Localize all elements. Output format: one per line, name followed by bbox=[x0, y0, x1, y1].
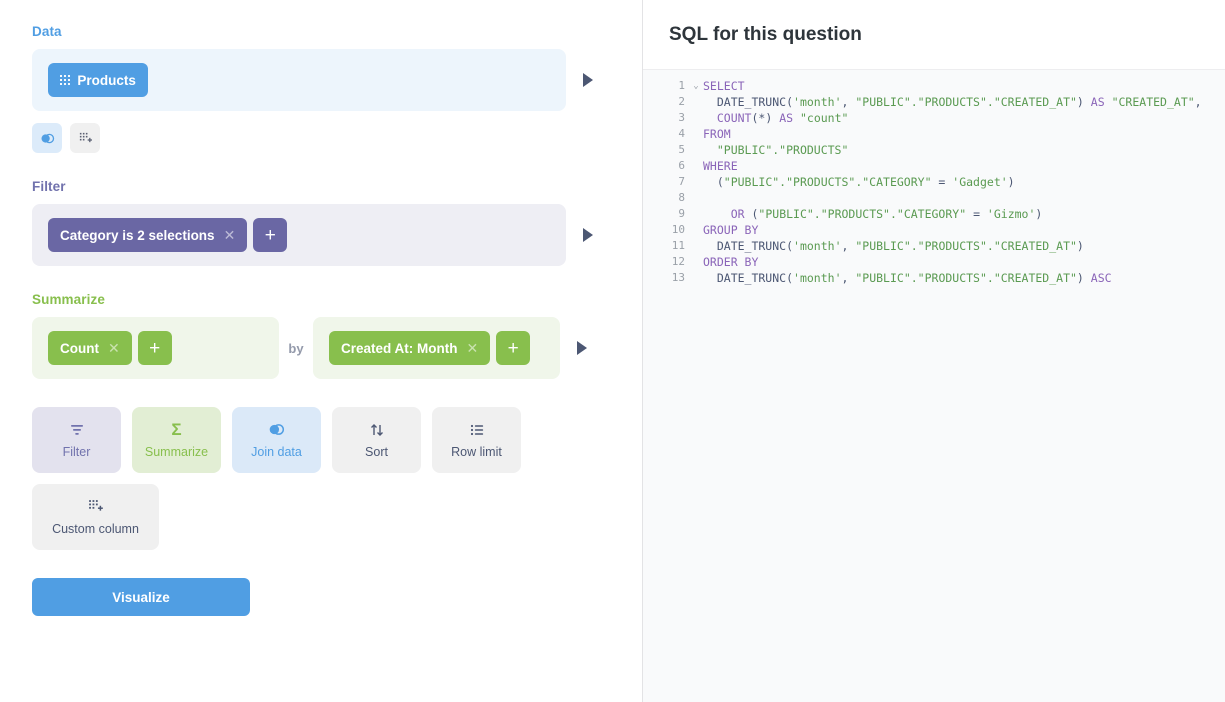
sql-line-text: FROM bbox=[703, 126, 1225, 142]
play-triangle-icon bbox=[577, 341, 587, 355]
sql-code-line: 8 bbox=[643, 190, 1225, 206]
filter-section-label: Filter bbox=[32, 179, 610, 194]
data-preview-button[interactable] bbox=[566, 73, 610, 87]
sql-panel-title: SQL for this question bbox=[669, 24, 862, 46]
aggregation-body: Count ✕ + bbox=[32, 317, 279, 379]
sql-line-text: "PUBLIC"."PRODUCTS" bbox=[703, 142, 1225, 158]
notebook-panel: Data Products bbox=[0, 0, 642, 702]
filter-chip[interactable]: Category is 2 selections ✕ bbox=[48, 218, 247, 252]
action-custom-column-label: Custom column bbox=[52, 522, 139, 536]
breakout-chip[interactable]: Created At: Month ✕ bbox=[329, 331, 490, 365]
sql-line-text: WHERE bbox=[703, 158, 1225, 174]
sql-line-text: DATE_TRUNC('month', "PUBLIC"."PRODUCTS".… bbox=[703, 238, 1225, 254]
action-summarize-label: Summarize bbox=[145, 445, 208, 459]
summarize-section: Summarize Count ✕ + by Created At: Month… bbox=[32, 292, 610, 407]
sql-code-line: 1⌄SELECT bbox=[643, 78, 1225, 94]
action-summarize-button[interactable]: Σ Summarize bbox=[132, 407, 221, 473]
add-aggregation-button[interactable]: + bbox=[138, 331, 172, 365]
sql-code-line: 5 "PUBLIC"."PRODUCTS" bbox=[643, 142, 1225, 158]
action-filter-label: Filter bbox=[63, 445, 91, 459]
breakout-body: Created At: Month ✕ + bbox=[313, 317, 560, 379]
list-icon bbox=[469, 421, 485, 438]
mini-join-data-button[interactable] bbox=[32, 123, 62, 153]
aggregation-chip-label: Count bbox=[60, 341, 99, 356]
sql-line-number: 11 bbox=[643, 238, 689, 254]
spacer bbox=[32, 266, 610, 292]
sql-line-number: 12 bbox=[643, 254, 689, 270]
data-mini-actions bbox=[32, 123, 610, 153]
data-step-body: Products bbox=[32, 49, 566, 111]
sql-line-number: 2 bbox=[643, 94, 689, 110]
sql-line-number: 6 bbox=[643, 158, 689, 174]
sigma-icon: Σ bbox=[171, 421, 181, 438]
sql-line-number: 9 bbox=[643, 206, 689, 222]
sql-line-text: COUNT(*) AS "count" bbox=[703, 110, 1225, 126]
close-x-icon[interactable]: ✕ bbox=[467, 341, 479, 355]
action-row-limit-label: Row limit bbox=[451, 445, 502, 459]
sql-line-number: 10 bbox=[643, 222, 689, 238]
action-custom-column-button[interactable]: Custom column bbox=[32, 484, 159, 550]
sql-code-area[interactable]: 1⌄SELECT2 DATE_TRUNC('month', "PUBLIC"."… bbox=[643, 70, 1225, 702]
summarize-preview-button[interactable] bbox=[560, 341, 604, 355]
sql-line-text: DATE_TRUNC('month', "PUBLIC"."PRODUCTS".… bbox=[703, 270, 1225, 286]
notebook-editor-page: Data Products bbox=[0, 0, 1225, 702]
sql-line-number: 8 bbox=[643, 190, 689, 206]
filter-step-body: Category is 2 selections ✕ + bbox=[32, 204, 566, 266]
sql-code-line: 13 DATE_TRUNC('month', "PUBLIC"."PRODUCT… bbox=[643, 270, 1225, 286]
sql-line-number: 7 bbox=[643, 174, 689, 190]
sql-code-line: 11 DATE_TRUNC('month', "PUBLIC"."PRODUCT… bbox=[643, 238, 1225, 254]
sort-arrows-icon bbox=[369, 421, 385, 438]
play-triangle-icon bbox=[583, 228, 593, 242]
filter-section: Filter Category is 2 selections ✕ + bbox=[32, 179, 610, 292]
data-table-chip[interactable]: Products bbox=[48, 63, 148, 97]
chevron-down-icon[interactable]: ⌄ bbox=[689, 78, 703, 94]
custom-column-icon bbox=[78, 131, 93, 146]
play-triangle-icon bbox=[583, 73, 593, 87]
sql-line-number: 5 bbox=[643, 142, 689, 158]
sql-code-line: 2 DATE_TRUNC('month', "PUBLIC"."PRODUCTS… bbox=[643, 94, 1225, 110]
close-x-icon[interactable]: ✕ bbox=[224, 228, 236, 242]
custom-column-icon bbox=[87, 498, 104, 515]
breakout-chip-label: Created At: Month bbox=[341, 341, 458, 356]
data-step-row: Products bbox=[32, 49, 610, 111]
visualize-wrapper: Visualize bbox=[32, 578, 610, 616]
add-filter-button[interactable]: + bbox=[253, 218, 287, 252]
action-row-limit-button[interactable]: Row limit bbox=[432, 407, 521, 473]
action-filter-button[interactable]: Filter bbox=[32, 407, 121, 473]
sql-line-number: 1 bbox=[643, 78, 689, 94]
mini-custom-column-button[interactable] bbox=[70, 123, 100, 153]
sql-panel: SQL for this question 1⌄SELECT2 DATE_TRU… bbox=[642, 0, 1225, 702]
sql-line-number: 13 bbox=[643, 270, 689, 286]
sql-line-text: SELECT bbox=[703, 78, 1225, 94]
add-breakout-button[interactable]: + bbox=[496, 331, 530, 365]
sql-line-text: ORDER BY bbox=[703, 254, 1225, 270]
summarize-section-label: Summarize bbox=[32, 292, 610, 307]
sql-line-text: GROUP BY bbox=[703, 222, 1225, 238]
data-section-label: Data bbox=[32, 24, 610, 39]
sql-line-number: 3 bbox=[643, 110, 689, 126]
sql-code-line: 6WHERE bbox=[643, 158, 1225, 174]
sql-code[interactable]: 1⌄SELECT2 DATE_TRUNC('month', "PUBLIC"."… bbox=[643, 78, 1225, 286]
close-x-icon[interactable]: ✕ bbox=[108, 341, 120, 355]
filter-chip-label: Category is 2 selections bbox=[60, 228, 215, 243]
filter-preview-button[interactable] bbox=[566, 228, 610, 242]
aggregation-chip[interactable]: Count ✕ bbox=[48, 331, 132, 365]
sql-code-line: 10GROUP BY bbox=[643, 222, 1225, 238]
sql-line-text: OR ("PUBLIC"."PRODUCTS"."CATEGORY" = 'Gi… bbox=[703, 206, 1225, 222]
sql-code-line: 9 OR ("PUBLIC"."PRODUCTS"."CATEGORY" = '… bbox=[643, 206, 1225, 222]
summarize-step-row: Count ✕ + by Created At: Month ✕ + bbox=[32, 317, 610, 379]
sql-panel-header: SQL for this question bbox=[643, 0, 1225, 70]
join-circles-icon bbox=[268, 421, 285, 438]
sql-line-text: DATE_TRUNC('month', "PUBLIC"."PRODUCTS".… bbox=[703, 94, 1225, 110]
notebook-action-buttons: Filter Σ Summarize Join data Sort bbox=[32, 407, 577, 550]
sql-line-number: 4 bbox=[643, 126, 689, 142]
action-join-data-label: Join data bbox=[251, 445, 302, 459]
data-section: Data Products bbox=[32, 24, 610, 153]
filter-step-row: Category is 2 selections ✕ + bbox=[32, 204, 610, 266]
summarize-by-label: by bbox=[279, 341, 313, 356]
sql-code-line: 4FROM bbox=[643, 126, 1225, 142]
action-join-data-button[interactable]: Join data bbox=[232, 407, 321, 473]
sql-line-text: ("PUBLIC"."PRODUCTS"."CATEGORY" = 'Gadge… bbox=[703, 174, 1225, 190]
join-circles-icon bbox=[40, 131, 55, 146]
visualize-button[interactable]: Visualize bbox=[32, 578, 250, 616]
spacer bbox=[32, 379, 610, 407]
sql-code-line: 7 ("PUBLIC"."PRODUCTS"."CATEGORY" = 'Gad… bbox=[643, 174, 1225, 190]
filter-funnel-icon bbox=[69, 421, 85, 438]
action-sort-button[interactable]: Sort bbox=[332, 407, 421, 473]
sql-code-line: 3 COUNT(*) AS "count" bbox=[643, 110, 1225, 126]
sql-code-line: 12ORDER BY bbox=[643, 254, 1225, 270]
data-table-chip-label: Products bbox=[77, 73, 136, 88]
table-grid-icon bbox=[60, 75, 70, 85]
action-sort-label: Sort bbox=[365, 445, 388, 459]
